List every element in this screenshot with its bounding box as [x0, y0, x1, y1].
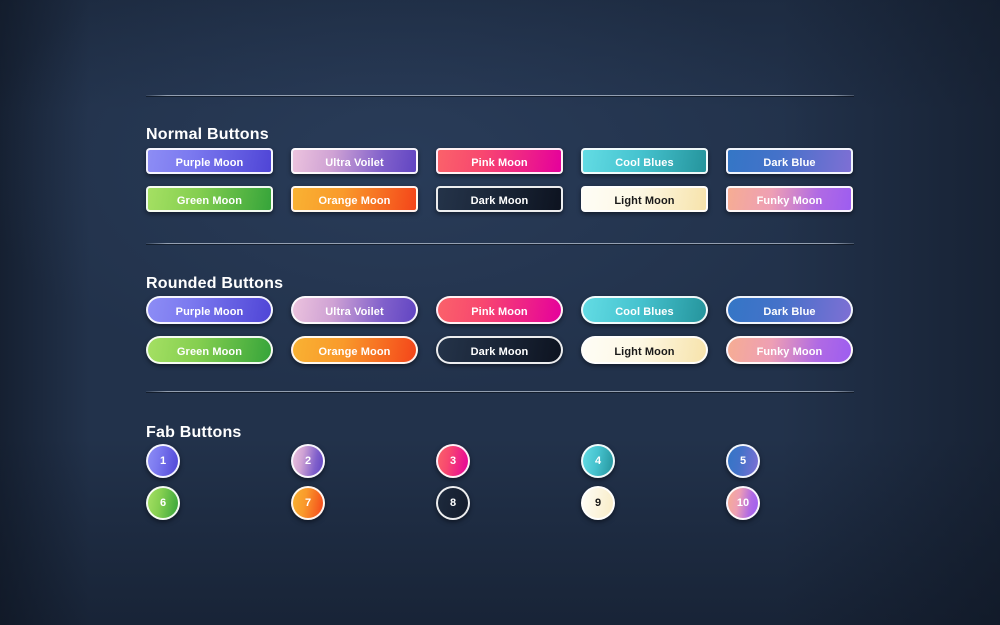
section-title-normal-buttons: Normal Buttons [146, 126, 269, 144]
button-label: Light Moon [614, 195, 674, 207]
rounded-button-purple-moon[interactable]: Purple Moon [146, 296, 273, 324]
fab-button-10[interactable]: 10 [726, 486, 760, 520]
button-label: Orange Moon [319, 195, 391, 207]
button-label: Dark Moon [471, 346, 529, 358]
button-label: Dark Blue [763, 157, 815, 169]
button-label: Pink Moon [471, 306, 528, 318]
divider-middle [146, 243, 854, 244]
fab-button-9[interactable]: 9 [581, 486, 615, 520]
button-label: Purple Moon [176, 157, 244, 169]
button-label: Funky Moon [757, 346, 823, 358]
rounded-button-light-moon[interactable]: Light Moon [581, 336, 708, 364]
fab-button-5[interactable]: 5 [726, 444, 760, 478]
button-label: Light Moon [614, 346, 674, 358]
rounded-button-dark-moon[interactable]: Dark Moon [436, 336, 563, 364]
content-area: Normal Buttons Purple MoonUltra VoiletPi… [146, 0, 854, 625]
button-label: Ultra Voilet [325, 157, 383, 169]
normal-button-dark-blue[interactable]: Dark Blue [726, 148, 853, 174]
section-title-rounded-buttons: Rounded Buttons [146, 275, 283, 293]
button-label: Green Moon [177, 195, 242, 207]
button-label: Green Moon [177, 346, 242, 358]
button-label: Pink Moon [471, 157, 528, 169]
button-label: Funky Moon [757, 195, 823, 207]
rounded-button-cool-blues[interactable]: Cool Blues [581, 296, 708, 324]
fab-button-4[interactable]: 4 [581, 444, 615, 478]
normal-button-light-moon[interactable]: Light Moon [581, 186, 708, 212]
button-label: Orange Moon [319, 346, 391, 358]
rounded-button-dark-blue[interactable]: Dark Blue [726, 296, 853, 324]
rounded-button-orange-moon[interactable]: Orange Moon [291, 336, 418, 364]
button-label: Dark Moon [471, 195, 529, 207]
normal-buttons-grid: Purple MoonUltra VoiletPink MoonCool Blu… [146, 148, 854, 212]
button-label: 3 [450, 455, 456, 467]
normal-button-ultra-voilet[interactable]: Ultra Voilet [291, 148, 418, 174]
button-label: 5 [740, 455, 746, 467]
section-title-fab-buttons: Fab Buttons [146, 424, 242, 442]
normal-button-purple-moon[interactable]: Purple Moon [146, 148, 273, 174]
button-label: 9 [595, 497, 601, 509]
divider-bottom [146, 391, 854, 392]
normal-button-dark-moon[interactable]: Dark Moon [436, 186, 563, 212]
fab-button-1[interactable]: 1 [146, 444, 180, 478]
button-label: 8 [450, 497, 456, 509]
fab-buttons-grid: 12345678910 [146, 444, 854, 520]
fab-button-8[interactable]: 8 [436, 486, 470, 520]
rounded-button-pink-moon[interactable]: Pink Moon [436, 296, 563, 324]
button-label: Cool Blues [615, 157, 673, 169]
button-label: Purple Moon [176, 306, 244, 318]
button-label: 10 [737, 497, 749, 509]
normal-button-cool-blues[interactable]: Cool Blues [581, 148, 708, 174]
button-label: Dark Blue [763, 306, 815, 318]
fab-button-3[interactable]: 3 [436, 444, 470, 478]
button-label: 6 [160, 497, 166, 509]
button-label: 2 [305, 455, 311, 467]
rounded-button-green-moon[interactable]: Green Moon [146, 336, 273, 364]
fab-button-6[interactable]: 6 [146, 486, 180, 520]
fab-button-7[interactable]: 7 [291, 486, 325, 520]
button-label: Ultra Voilet [325, 306, 383, 318]
normal-button-orange-moon[interactable]: Orange Moon [291, 186, 418, 212]
button-label: Cool Blues [615, 306, 673, 318]
page-canvas: Normal Buttons Purple MoonUltra VoiletPi… [0, 0, 1000, 625]
button-label: 1 [160, 455, 166, 467]
normal-button-pink-moon[interactable]: Pink Moon [436, 148, 563, 174]
normal-button-funky-moon[interactable]: Funky Moon [726, 186, 853, 212]
rounded-button-ultra-voilet[interactable]: Ultra Voilet [291, 296, 418, 324]
divider-top [146, 95, 854, 96]
button-label: 4 [595, 455, 601, 467]
normal-button-green-moon[interactable]: Green Moon [146, 186, 273, 212]
button-label: 7 [305, 497, 311, 509]
rounded-buttons-grid: Purple MoonUltra VoiletPink MoonCool Blu… [146, 296, 854, 364]
rounded-button-funky-moon[interactable]: Funky Moon [726, 336, 853, 364]
fab-button-2[interactable]: 2 [291, 444, 325, 478]
